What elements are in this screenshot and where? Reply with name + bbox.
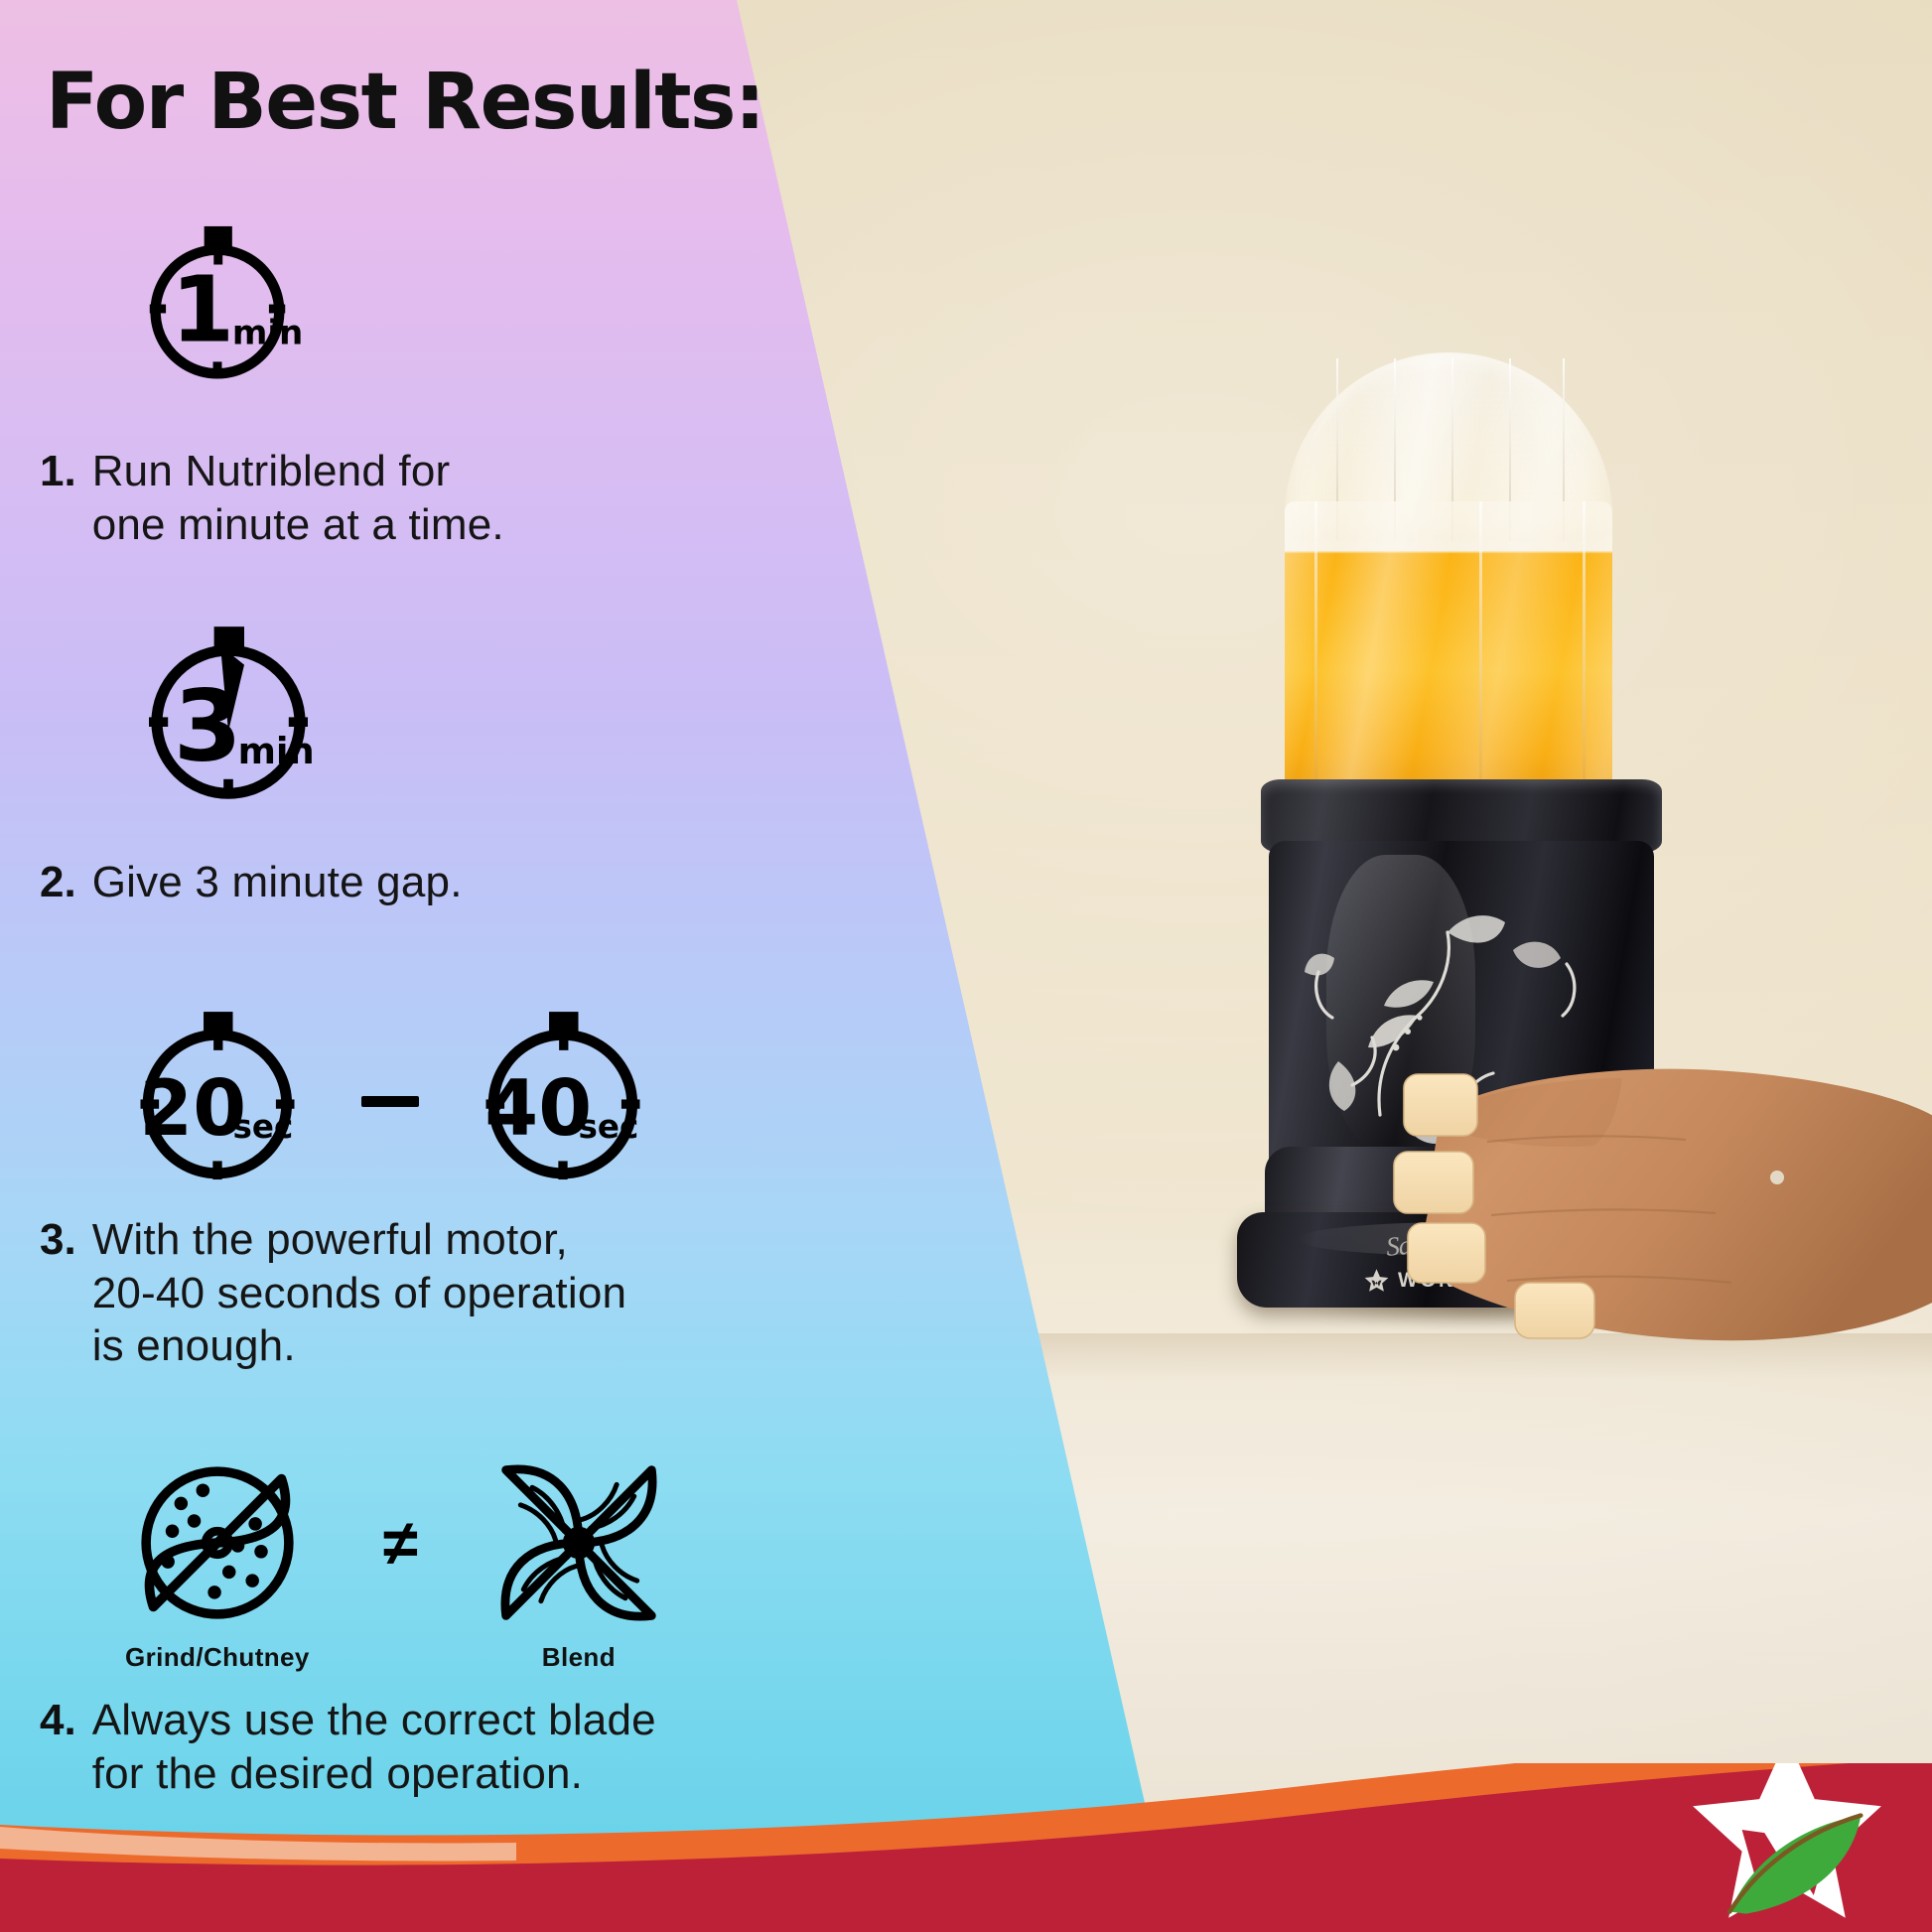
blade-comparison-row: Grind/Chutney ≠ xyxy=(125,1455,666,1673)
timer-3min-row: 3 min xyxy=(133,623,324,814)
step-1-text: Run Nutriblend for one minute at a time. xyxy=(92,445,504,551)
star-icon xyxy=(1364,1268,1389,1293)
grind-blade-label: Grind/Chutney xyxy=(125,1642,310,1673)
step-3-number: 3. xyxy=(40,1213,76,1373)
blend-blade-item: Blend xyxy=(491,1455,666,1673)
step-1-number: 1. xyxy=(40,445,76,551)
not-equal-icon: ≠ xyxy=(383,1506,418,1623)
page-title: For Best Results: xyxy=(46,58,764,147)
timer-1min-value: 1 xyxy=(171,257,234,363)
band-waves xyxy=(0,1763,1932,1932)
step-1: 1. Run Nutriblend for one minute at a ti… xyxy=(40,445,504,551)
timer-20sec-icon: 20 sec xyxy=(125,1009,310,1193)
wonderchef-logo xyxy=(1684,1763,1890,1926)
blender-jar xyxy=(1285,352,1612,809)
infographic-poster: Sanjeev Kapoor WONDERCHEF xyxy=(0,0,1932,1932)
grind-blade-item: Grind/Chutney xyxy=(125,1455,310,1673)
step-3-text: With the powerful motor, 20-40 seconds o… xyxy=(92,1213,626,1373)
timer-1min-icon: 1 min! xyxy=(129,220,306,397)
timer-20sec-unit: sec xyxy=(233,1108,294,1146)
range-separator xyxy=(361,1096,419,1107)
timer-3min-unit: min xyxy=(238,730,315,772)
timer-40sec-icon: 40 sec xyxy=(471,1009,655,1193)
blend-blade-icon xyxy=(491,1455,666,1630)
timer-1min-unit: min! xyxy=(232,314,306,353)
grind-blade-icon xyxy=(130,1455,305,1630)
step-2-number: 2. xyxy=(40,856,76,909)
step-2-text: Give 3 minute gap. xyxy=(92,856,463,909)
step-2: 2. Give 3 minute gap. xyxy=(40,856,463,909)
hand-holding-product xyxy=(1388,1001,1932,1358)
bottom-brand-band xyxy=(0,1763,1932,1932)
jar-juice-fill xyxy=(1285,501,1612,809)
timer-20sec-value: 20 xyxy=(139,1064,246,1154)
timer-3min-value: 3 xyxy=(174,670,242,784)
timer-range-row: 20 sec 40 sec xyxy=(125,1009,655,1193)
step-3: 3. With the powerful motor, 20-40 second… xyxy=(40,1213,626,1373)
blend-blade-label: Blend xyxy=(542,1642,616,1673)
timer-40sec-unit: sec xyxy=(579,1108,639,1146)
timer-3min-icon: 3 min xyxy=(133,623,324,814)
timer-1min-row: 1 min! xyxy=(129,220,306,397)
timer-40sec-value: 40 xyxy=(484,1064,592,1154)
